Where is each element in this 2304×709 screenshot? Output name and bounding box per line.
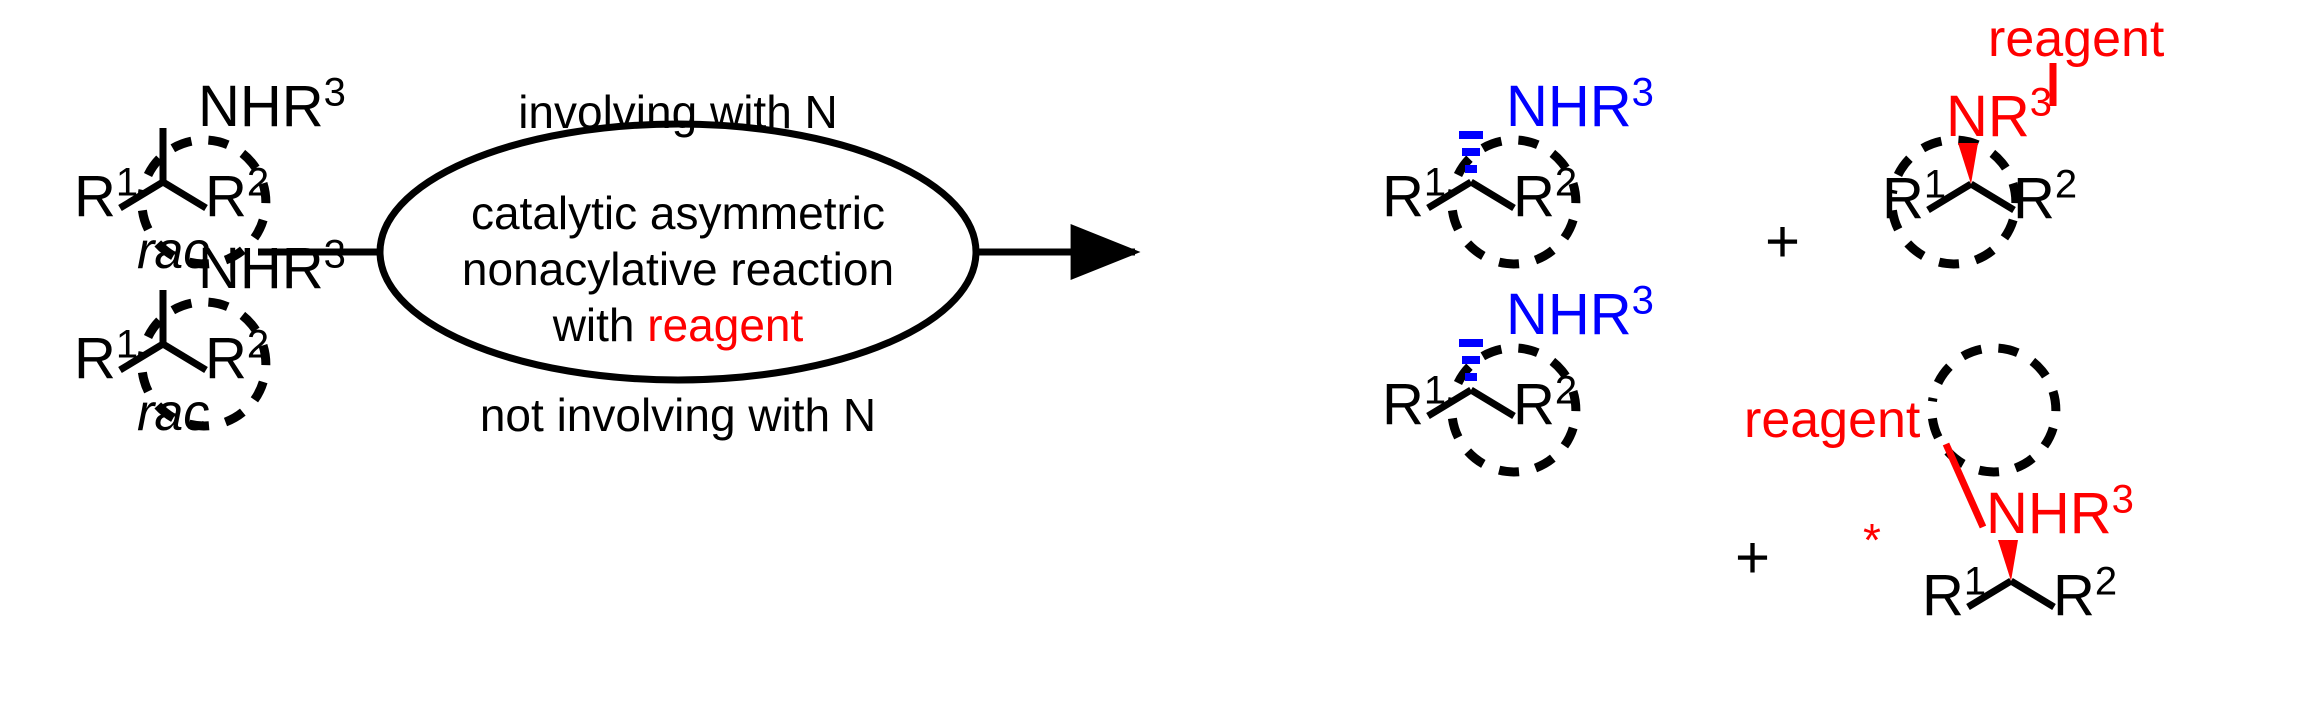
plus-operator-top: + [1765,212,1800,272]
oval-line-3-reagent: reagent [647,299,803,351]
product-bottom-right-stereocenter-mark: * [1863,517,1881,563]
oval-line-2: nonacylative reaction [380,242,976,296]
plus-operator-bottom: + [1735,528,1770,588]
substrate-bottom-r1-label: R1 [74,330,138,388]
product-top-right-nitrogen-label: NR3 [1946,88,2052,146]
product-bottom-right-reagent-label: reagent [1744,394,1920,446]
product-bottom-left-r1-label: R1 [1382,376,1446,434]
product-top-left-nitrogen-label: NHR3 [1506,78,1654,136]
condition-below-arrow: not involving with N [0,388,1356,442]
substrate-bottom-nitrogen-label: NHR3 [198,240,346,298]
product-top-right-reagent-label: reagent [1988,13,2164,65]
product-bottom-right-r2-label: R2 [2053,567,2117,625]
oval-line-3-prefix: with [553,299,648,351]
substrate-bottom-r2-label: R2 [205,330,269,388]
substrate-top-r2-label: R2 [205,168,269,226]
condition-above-arrow: involving with N [0,85,1356,139]
oval-line-3: with reagent [380,298,976,352]
substrate-top-r1-label: R1 [74,168,138,226]
product-top-right-r2-label: R2 [2013,170,2077,228]
product-top-right-r1-label: R1 [1882,170,1946,228]
product-bottom-right-r1-label: R1 [1922,567,1986,625]
product-top-left-r1-label: R1 [1382,168,1446,226]
oval-line-1: catalytic asymmetric [380,186,976,240]
product-top-left-r2-label: R2 [1513,168,1577,226]
product-bottom-left-r2-label: R2 [1513,376,1577,434]
product-bottom-right-nitrogen-label: NHR3 [1986,485,2134,543]
product-bottom-left-nitrogen-label: NHR3 [1506,286,1654,344]
